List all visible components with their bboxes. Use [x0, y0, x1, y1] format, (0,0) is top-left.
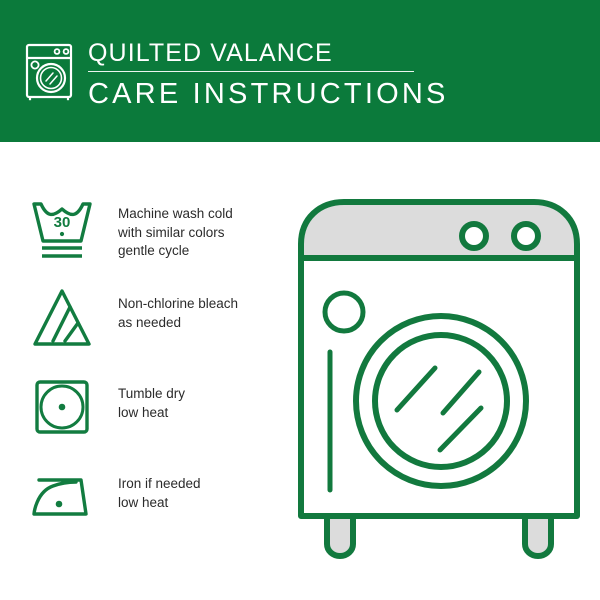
care-line: as needed	[118, 314, 283, 333]
title-divider	[88, 71, 414, 72]
care-line: low heat	[118, 494, 283, 513]
care-instruction-list: 30 Machine wash cold with similar colors…	[0, 142, 290, 600]
leg-left	[327, 516, 353, 556]
detergent-dial[interactable]	[325, 293, 363, 331]
leg-right	[525, 516, 551, 556]
page-subtitle: CARE INSTRUCTIONS	[88, 78, 558, 111]
care-instructions-page: QUILTED VALANCE CARE INSTRUCTIONS 30 Mac…	[0, 0, 600, 600]
care-instruction-text: Machine wash cold with similar colors ge…	[118, 205, 283, 261]
list-item: Tumble dry low heat	[0, 376, 290, 466]
knob-right[interactable]	[514, 224, 538, 248]
care-line: with similar colors	[118, 224, 283, 243]
care-line: Tumble dry	[118, 385, 283, 404]
machine-wash-30-gentle-icon: 30	[31, 196, 93, 266]
iron-low-icon	[31, 466, 93, 536]
page-title: QUILTED VALANCE	[88, 38, 558, 68]
non-chlorine-bleach-icon	[31, 286, 93, 356]
care-line: Iron if needed	[118, 475, 283, 494]
header-title-block: QUILTED VALANCE CARE INSTRUCTIONS	[88, 38, 558, 111]
knob-left[interactable]	[462, 224, 486, 248]
tumble-dry-low-icon	[31, 376, 93, 446]
care-line: Non-chlorine bleach	[118, 295, 283, 314]
care-line: low heat	[118, 404, 283, 423]
list-item: Iron if needed low heat	[0, 466, 290, 556]
care-line: Machine wash cold	[118, 205, 283, 224]
washing-machine-icon	[24, 43, 74, 101]
care-instruction-text: Tumble dry low heat	[118, 385, 283, 422]
wash-temperature-label: 30	[54, 214, 71, 231]
care-instruction-text: Iron if needed low heat	[118, 475, 283, 512]
washing-machine-illustration	[296, 196, 582, 562]
list-item: Non-chlorine bleach as needed	[0, 286, 290, 376]
list-item: 30 Machine wash cold with similar colors…	[0, 196, 290, 286]
header-banner: QUILTED VALANCE CARE INSTRUCTIONS	[0, 0, 600, 142]
care-line: gentle cycle	[118, 242, 283, 261]
care-instruction-text: Non-chlorine bleach as needed	[118, 295, 283, 332]
